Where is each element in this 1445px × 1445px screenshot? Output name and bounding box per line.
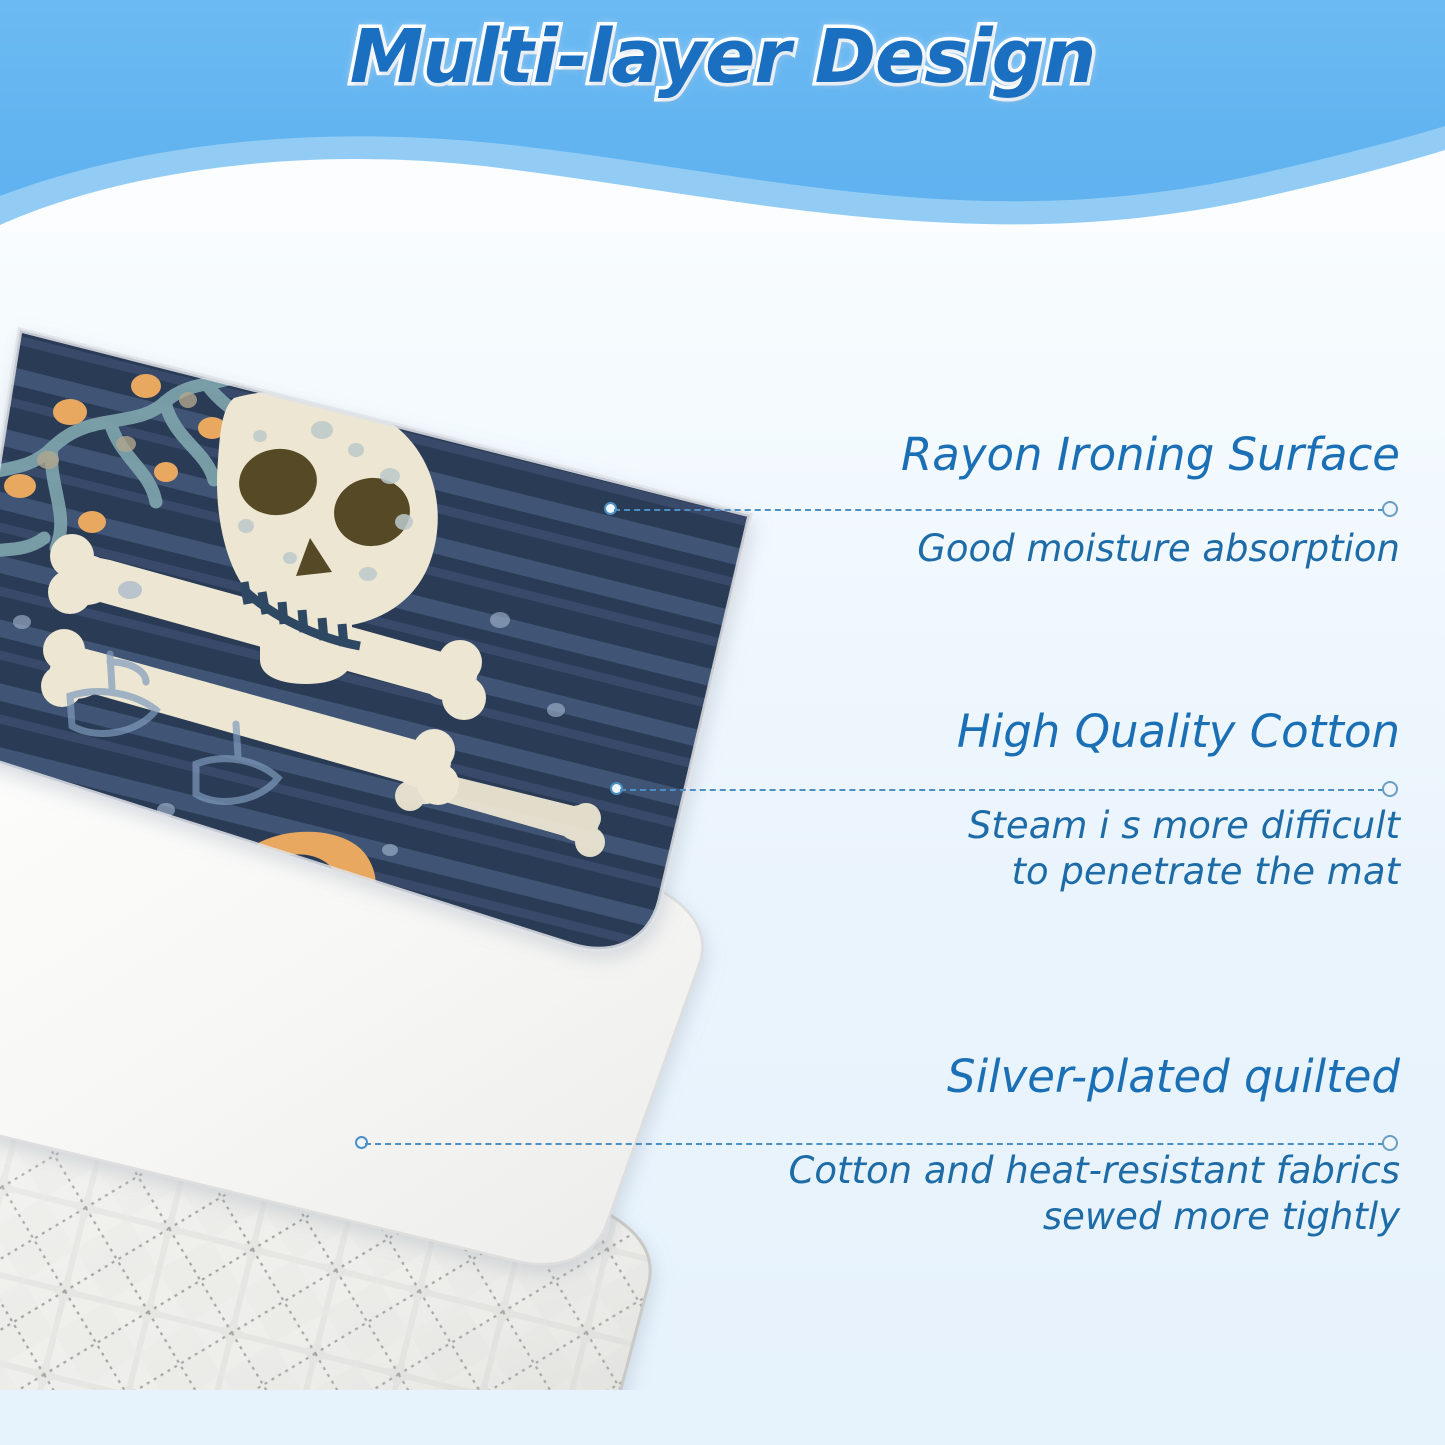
callout-title: Silver-plated quilted — [700, 1052, 1400, 1102]
callout-subtext-line: sewed more tightly — [700, 1194, 1400, 1240]
callout-subtext: Cotton and heat-resistant fabrics sewed … — [700, 1148, 1400, 1240]
header-banner: Multi-layer Design — [0, 0, 1445, 232]
callout-subtext-line: Cotton and heat-resistant fabrics — [700, 1148, 1400, 1194]
callout-silver-plated-quilted: Silver-plated quilted Cotton and heat-re… — [700, 1052, 1400, 1240]
callout-subtext-line: Good moisture absorption — [760, 526, 1400, 572]
callout-subtext-line: Steam i s more difficult — [760, 803, 1400, 849]
callout-subtext: Good moisture absorption — [760, 526, 1400, 572]
callout-rayon-ironing-surface: Rayon Ironing Surface Good moisture abso… — [760, 430, 1400, 572]
callout-high-quality-cotton: High Quality Cotton Steam i s more diffi… — [760, 707, 1400, 895]
callout-subtext-line: to penetrate the mat — [760, 849, 1400, 895]
layered-mat-illustration — [0, 290, 820, 1390]
callout-title: High Quality Cotton — [760, 707, 1400, 757]
callout-title: Rayon Ironing Surface — [760, 430, 1400, 480]
callout-subtext: Steam i s more difficult to penetrate th… — [760, 803, 1400, 895]
product-layer-stack — [0, 290, 820, 1390]
page-title: Multi-layer Design — [0, 14, 1445, 100]
infographic-canvas: Multi-layer Design — [0, 0, 1445, 1445]
